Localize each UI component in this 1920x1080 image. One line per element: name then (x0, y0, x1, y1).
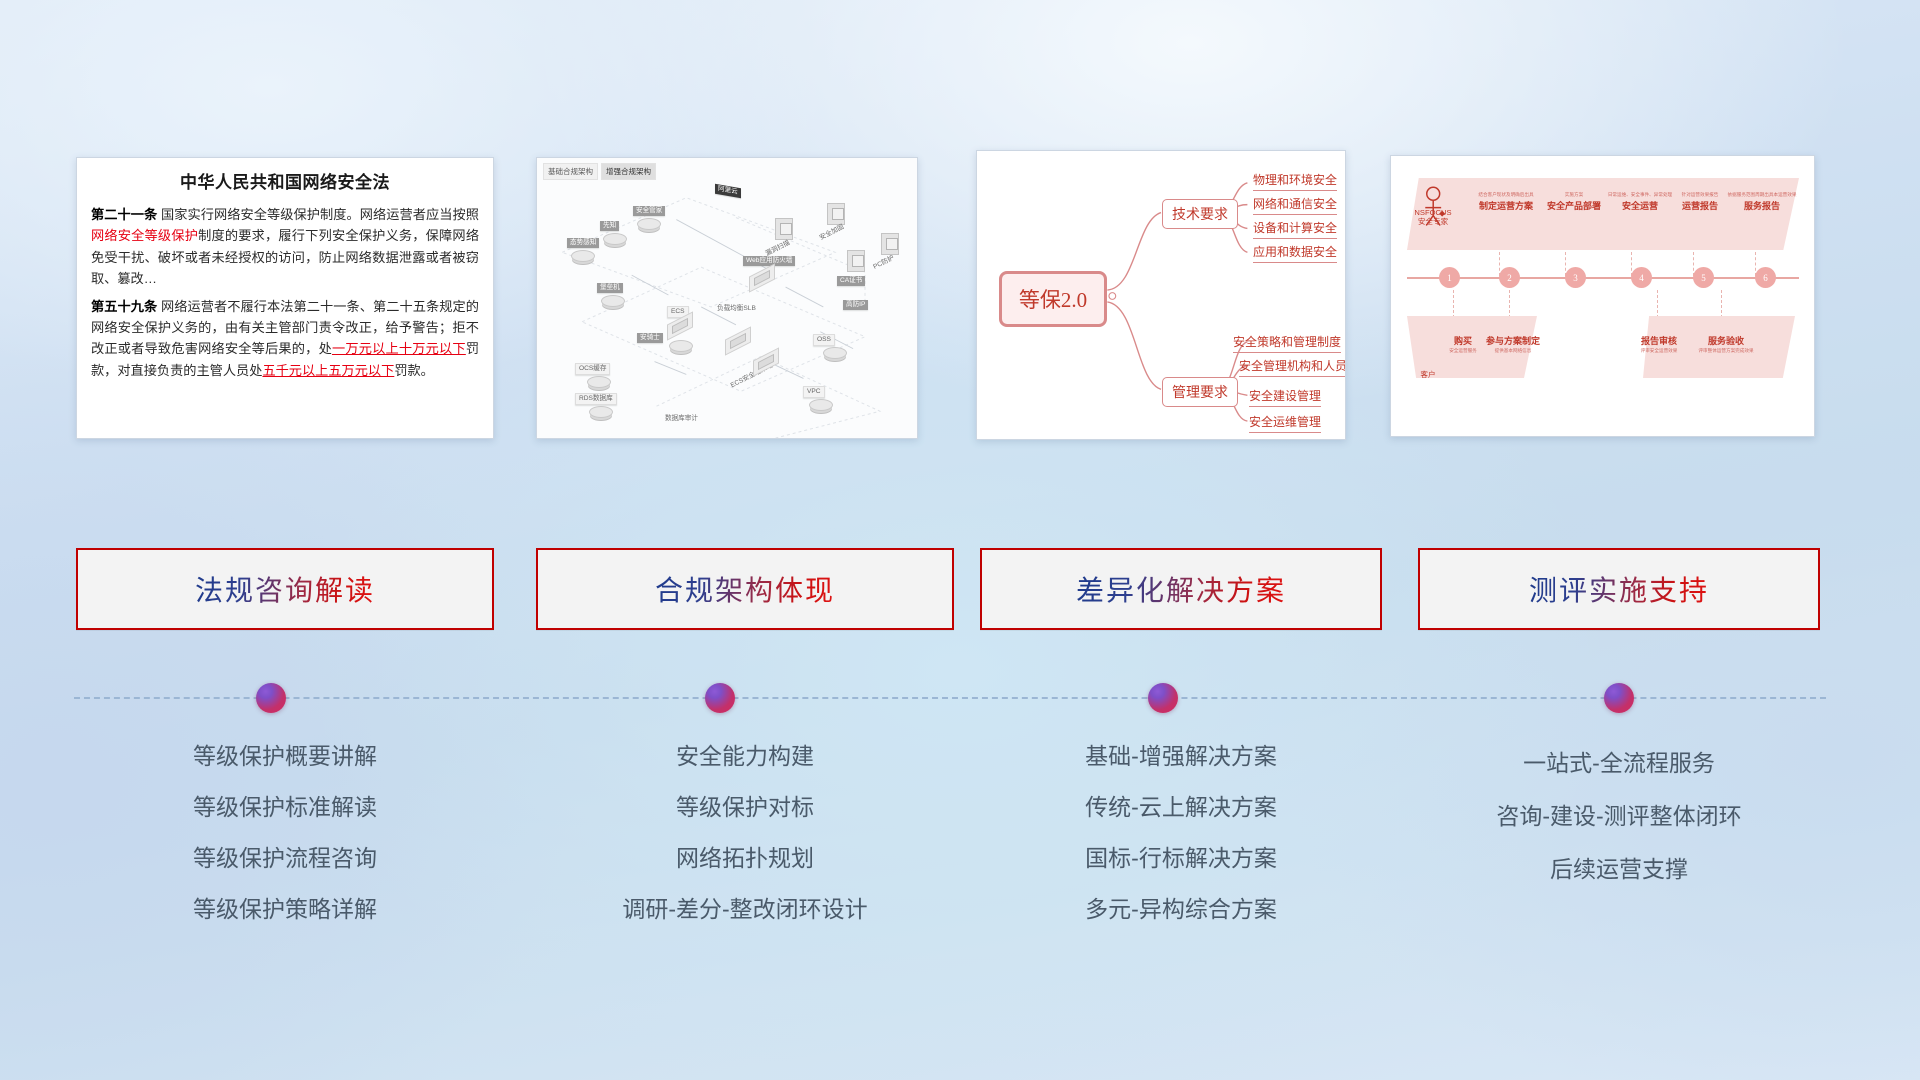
law-article-59-highlight-2: 五千元以上五万元以下 (262, 363, 394, 378)
list-item: 等级保护策略详解 (76, 898, 494, 921)
node-bastion-host: 堡垒机 (597, 283, 623, 293)
slide-canvas: 中华人民共和国网络安全法 第二十一条 国家实行网络安全等级保护制度。网络运营者应… (0, 0, 1920, 1080)
title-box-4-label: 测评实施支持 (1529, 569, 1709, 609)
law-article-59-highlight-1: 一万元以上十万元以下 (332, 341, 466, 356)
node-ocs-cache: OCS缓存 (575, 363, 610, 375)
disk-icon-6 (587, 376, 611, 388)
mindmap-branch-technical: 技术要求 (1162, 199, 1238, 229)
timeline-tick-6 (1453, 290, 1454, 318)
disk-icon-2 (603, 233, 627, 245)
bullet-list-1: 等级保护概要讲解 等级保护标准解读 等级保护流程咨询 等级保护策略详解 (76, 745, 494, 949)
mindmap-node-ops-mgmt: 安全运维管理 (1249, 413, 1321, 433)
timeline-top-step-5-label: 服务报告 (1723, 199, 1801, 212)
timeline-bottom-step-2: 参与方案制定 提供基本网络信息 (1485, 332, 1541, 354)
timeline-step-number-5: 5 (1693, 267, 1714, 288)
timeline-top-step-1-label: 制定运营方案 (1467, 199, 1545, 212)
timeline-bottom-step-3-sub: 评审安全运营效果 (1633, 348, 1685, 354)
timeline-step-number-4: 4 (1631, 267, 1652, 288)
timeline-step-number-3: 3 (1565, 267, 1586, 288)
title-box-1[interactable]: 法规咨询解读 (76, 548, 494, 630)
list-item: 等级保护对标 (536, 796, 954, 819)
disk-icon-5 (669, 340, 693, 352)
law-document: 中华人民共和国网络安全法 第二十一条 国家实行网络安全等级保护制度。网络运营者应… (77, 158, 493, 393)
law-title: 中华人民共和国网络安全法 (91, 168, 479, 193)
mindmap-node-construction-mgmt: 安全建设管理 (1249, 387, 1321, 407)
timeline-bottom-step-4-sub: 评审整体运营方案完成效果 (1691, 348, 1761, 354)
node-security-butler: 安全管家 (633, 206, 665, 216)
list-item: 调研-差分-整改闭环设计 (536, 898, 954, 921)
list-item: 后续运营支撑 (1418, 858, 1820, 881)
list-item: 多元-异构综合方案 (980, 898, 1382, 921)
timeline-bottom-step-4-label: 服务验收 (1691, 334, 1761, 347)
disk-icon-9 (809, 399, 833, 411)
list-item: 网络拓扑规划 (536, 847, 954, 870)
timeline-rail (1407, 277, 1799, 279)
timeline-top-step-5: 依据服务范围周期出具本运营效果 服务报告 (1723, 192, 1801, 212)
timeline-bottom-step-2-sub: 提供基本网络信息 (1485, 348, 1541, 354)
timeline-tick-9 (1721, 290, 1722, 318)
screenshot-card-architecture[interactable]: 基础合规架构 增强合规架构 (536, 157, 918, 439)
list-item: 等级保护概要讲解 (76, 745, 494, 768)
bullet-list-4: 一站式-全流程服务 咨询-建设-测评整体闭环 后续运营支撑 (1418, 752, 1820, 911)
node-slb: 负载均衡SLB (717, 306, 756, 313)
mindmap-branch-management: 管理要求 (1162, 377, 1238, 407)
timeline-top-step-1-hint: 结合客户现状及明确后出具 (1467, 192, 1545, 197)
disk-icon-8 (823, 347, 847, 359)
timeline-bottom-step-1: 购买 安全运营服务 (1441, 332, 1485, 354)
timeline-top-step-5-hint: 依据服务范围周期出具本运营效果 (1723, 192, 1801, 197)
disk-icon-3 (571, 250, 595, 262)
node-database-audit: 数据库审计 (665, 416, 698, 423)
law-article-21-highlight: 网络安全等级保护 (91, 228, 198, 243)
list-item: 等级保护流程咨询 (76, 847, 494, 870)
architecture-diagram: 基础合规架构 增强合规架构 (537, 158, 917, 438)
list-item: 安全能力构建 (536, 745, 954, 768)
timeline-node-4[interactable] (1604, 683, 1634, 713)
timeline-tick-8 (1657, 290, 1658, 318)
list-item: 基础-增强解决方案 (980, 745, 1382, 768)
panel-icon-1 (775, 218, 793, 240)
title-box-3-label: 差异化解决方案 (1076, 569, 1286, 609)
node-situation-awareness: 态势感知 (567, 238, 599, 248)
panel-icon-4 (881, 233, 899, 255)
node-vpc: VPC (803, 386, 825, 398)
title-box-2-label: 合规架构体现 (655, 569, 835, 609)
bullet-list-3: 基础-增强解决方案 传统-云上解决方案 国标-行标解决方案 多元-异构综合方案 (980, 745, 1382, 949)
screenshot-card-law[interactable]: 中华人民共和国网络安全法 第二十一条 国家实行网络安全等级保护制度。网络运营者应… (76, 157, 494, 439)
disk-icon-1 (637, 218, 661, 230)
node-anqishi: 安骑士 (637, 333, 663, 343)
timeline-step-number-2: 2 (1499, 267, 1520, 288)
title-box-4[interactable]: 测评实施支持 (1418, 548, 1820, 630)
timeline-bottom-step-1-sub: 安全运营服务 (1441, 348, 1485, 354)
disk-icon-4 (601, 295, 625, 307)
timeline-node-1[interactable] (256, 683, 286, 713)
title-box-2[interactable]: 合规架构体现 (536, 548, 954, 630)
mindmap-node-physical-env: 物理和环境安全 (1253, 171, 1337, 191)
mindmap-node-network-comm: 网络和通信安全 (1253, 195, 1337, 215)
law-article-59-seg3: 罚款。 (394, 363, 434, 378)
timeline-expert-role: 安全专家 (1401, 217, 1465, 226)
list-item: 一站式-全流程服务 (1418, 752, 1820, 775)
timeline-diagram: NSFOCUS 安全专家 结合客户现状及明确后出具 制定运营方案 实施方案 安全… (1391, 156, 1814, 436)
law-article-21-label: 第二十一条 (91, 207, 157, 222)
list-item: 咨询-建设-测评整体闭环 (1418, 805, 1820, 828)
mindmap-node-app-data: 应用和数据安全 (1253, 243, 1337, 263)
timeline-bottom-step-1-label: 购买 (1441, 334, 1485, 347)
list-item: 传统-云上解决方案 (980, 796, 1382, 819)
mindmap-root: 等保2.0 (999, 271, 1107, 327)
title-box-3[interactable]: 差异化解决方案 (980, 548, 1382, 630)
timeline-bottom-step-3-label: 报告审核 (1633, 334, 1685, 347)
law-article-21-seg1: 国家实行网络安全等级保护制度。网络运营者应当按照 (157, 207, 479, 222)
node-xianzhi: 先知 (600, 221, 619, 231)
timeline-bottom-step-2-label: 参与方案制定 (1485, 334, 1541, 347)
mindmap-node-device-compute: 设备和计算安全 (1253, 219, 1337, 239)
panel-icon-2 (827, 203, 845, 225)
timeline-bottom-step-3: 报告审核 评审安全运营效果 (1633, 332, 1685, 354)
bullet-list-2: 安全能力构建 等级保护对标 网络拓扑规划 调研-差分-整改闭环设计 (536, 745, 954, 949)
timeline-node-3[interactable] (1148, 683, 1178, 713)
list-item: 等级保护标准解读 (76, 796, 494, 819)
screenshot-card-mindmap[interactable]: 等保2.0 技术要求 物理和环境安全 网络和通信安全 设备和计算安全 应用和数据… (976, 150, 1346, 440)
mindmap-node-org-personnel: 安全管理机构和人员 (1239, 357, 1346, 377)
panel-icon-3 (847, 250, 865, 272)
timeline-node-2[interactable] (705, 683, 735, 713)
law-article-59-label: 第五十九条 (91, 299, 157, 314)
timeline-top-step-1: 结合客户现状及明确后出具 制定运营方案 (1467, 192, 1545, 212)
screenshot-card-timeline[interactable]: NSFOCUS 安全专家 结合客户现状及明确后出具 制定运营方案 实施方案 安全… (1390, 155, 1815, 437)
list-item: 国标-行标解决方案 (980, 847, 1382, 870)
timeline-tick-7 (1509, 290, 1510, 318)
disk-icon-7 (589, 406, 613, 418)
node-anti-ddos-ip: 高防IP (843, 300, 868, 310)
mindmap-diagram: 等保2.0 技术要求 物理和环境安全 网络和通信安全 设备和计算安全 应用和数据… (977, 151, 1345, 439)
mindmap-node-policy-system: 安全策略和管理制度 (1233, 333, 1341, 353)
timeline-customer-label: 客户 (1405, 370, 1451, 379)
title-box-1-label: 法规咨询解读 (195, 569, 375, 609)
node-oss: OSS (813, 334, 835, 346)
node-rds-database: RDS数据库 (575, 393, 617, 405)
timeline-bottom-step-4: 服务验收 评审整体运营方案完成效果 (1691, 332, 1761, 354)
timeline-dashed-line (74, 697, 1826, 699)
law-article-21: 第二十一条 国家实行网络安全等级保护制度。网络运营者应当按照网络安全等级保护制度… (91, 204, 479, 290)
law-article-59: 第五十九条 网络运营者不履行本法第二十一条、第二十五条规定的网络安全保护义务的，… (91, 296, 479, 382)
timeline-step-number-6: 6 (1755, 267, 1776, 288)
node-ca-cert: CA证书 (837, 276, 865, 286)
timeline-step-number-1: 1 (1439, 267, 1460, 288)
timeline-expert-label: NSFOCUS 安全专家 (1401, 208, 1465, 227)
